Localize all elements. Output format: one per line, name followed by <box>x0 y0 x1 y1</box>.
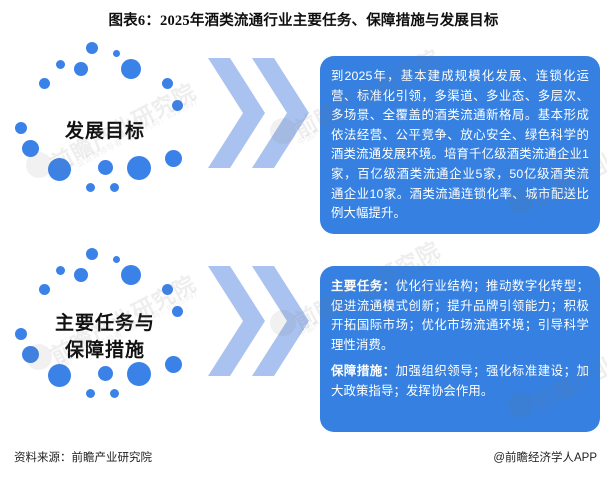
content-card-development-goals: 到2025年，基本建成规模化发展、连锁化运营、标准化引领，多渠道、多业态、多层次… <box>320 56 600 234</box>
decorative-dot <box>39 78 50 89</box>
decorative-dot <box>48 158 71 181</box>
decorative-dot <box>56 266 65 275</box>
decorative-dot <box>127 156 151 180</box>
card-paragraph-text: 到2025年，基本建成规模化发展、连锁化运营、标准化引领，多渠道、多业态、多层次… <box>331 69 589 220</box>
decorative-dot <box>98 160 113 175</box>
card-paragraph-lead: 保障措施： <box>331 364 396 378</box>
decorative-dot <box>86 389 95 398</box>
row-label-development-goals: 发展目标 <box>0 118 210 145</box>
decorative-dot <box>98 366 113 381</box>
decorative-dot <box>74 62 88 76</box>
decorative-dot <box>110 389 119 398</box>
chevron-right-icon <box>252 266 310 376</box>
decorative-dot <box>113 50 120 57</box>
decorative-dot <box>162 284 173 295</box>
footer-source: 资料来源：前瞻产业研究院 <box>14 449 152 465</box>
decorative-dot <box>121 59 141 79</box>
card-paragraph: 保障措施：加强组织领导；强化标准建设；加大政策指导；发挥协会作用。 <box>331 362 589 401</box>
card-paragraph: 主要任务：优化行业结构；推动数字化转型；促进流通模式创新；提升品牌引领能力；积极… <box>331 277 589 355</box>
decorative-dot <box>48 364 71 387</box>
decorative-dot <box>86 183 95 192</box>
decorative-dot <box>162 78 173 89</box>
decorative-dot <box>113 256 120 263</box>
page-title: 图表6：2025年酒类流通行业主要任务、保障措施与发展目标 <box>0 9 607 30</box>
decorative-dot <box>56 60 65 69</box>
footer-brand: @前瞻经济学人APP <box>493 449 597 465</box>
title-divider <box>0 31 607 32</box>
decorative-dot <box>39 284 50 295</box>
decorative-dot <box>74 268 88 282</box>
decorative-dot <box>121 265 141 285</box>
decorative-dot <box>86 42 98 54</box>
content-card-main-tasks-and-measures: 主要任务：优化行业结构；推动数字化转型；促进流通模式创新；提升品牌引领能力；积极… <box>320 266 600 432</box>
decorative-dot <box>165 150 182 167</box>
decorative-dot <box>86 248 98 260</box>
card-paragraph: 到2025年，基本建成规模化发展、连锁化运营、标准化引领，多渠道、多业态、多层次… <box>331 67 589 224</box>
double-chevron-right-icon <box>208 58 320 168</box>
decorative-dot <box>127 362 151 386</box>
row-label-line-2: 保障措施 <box>0 337 210 364</box>
double-chevron-right-icon <box>208 266 320 376</box>
decorative-dot <box>110 183 119 192</box>
card-paragraph-lead: 主要任务： <box>331 279 396 293</box>
chevron-right-icon <box>252 58 310 168</box>
row-label-main-tasks-and-measures: 主要任务与 保障措施 <box>0 310 210 364</box>
row-label-line-1: 主要任务与 <box>0 310 210 337</box>
decorative-dot <box>172 100 183 111</box>
